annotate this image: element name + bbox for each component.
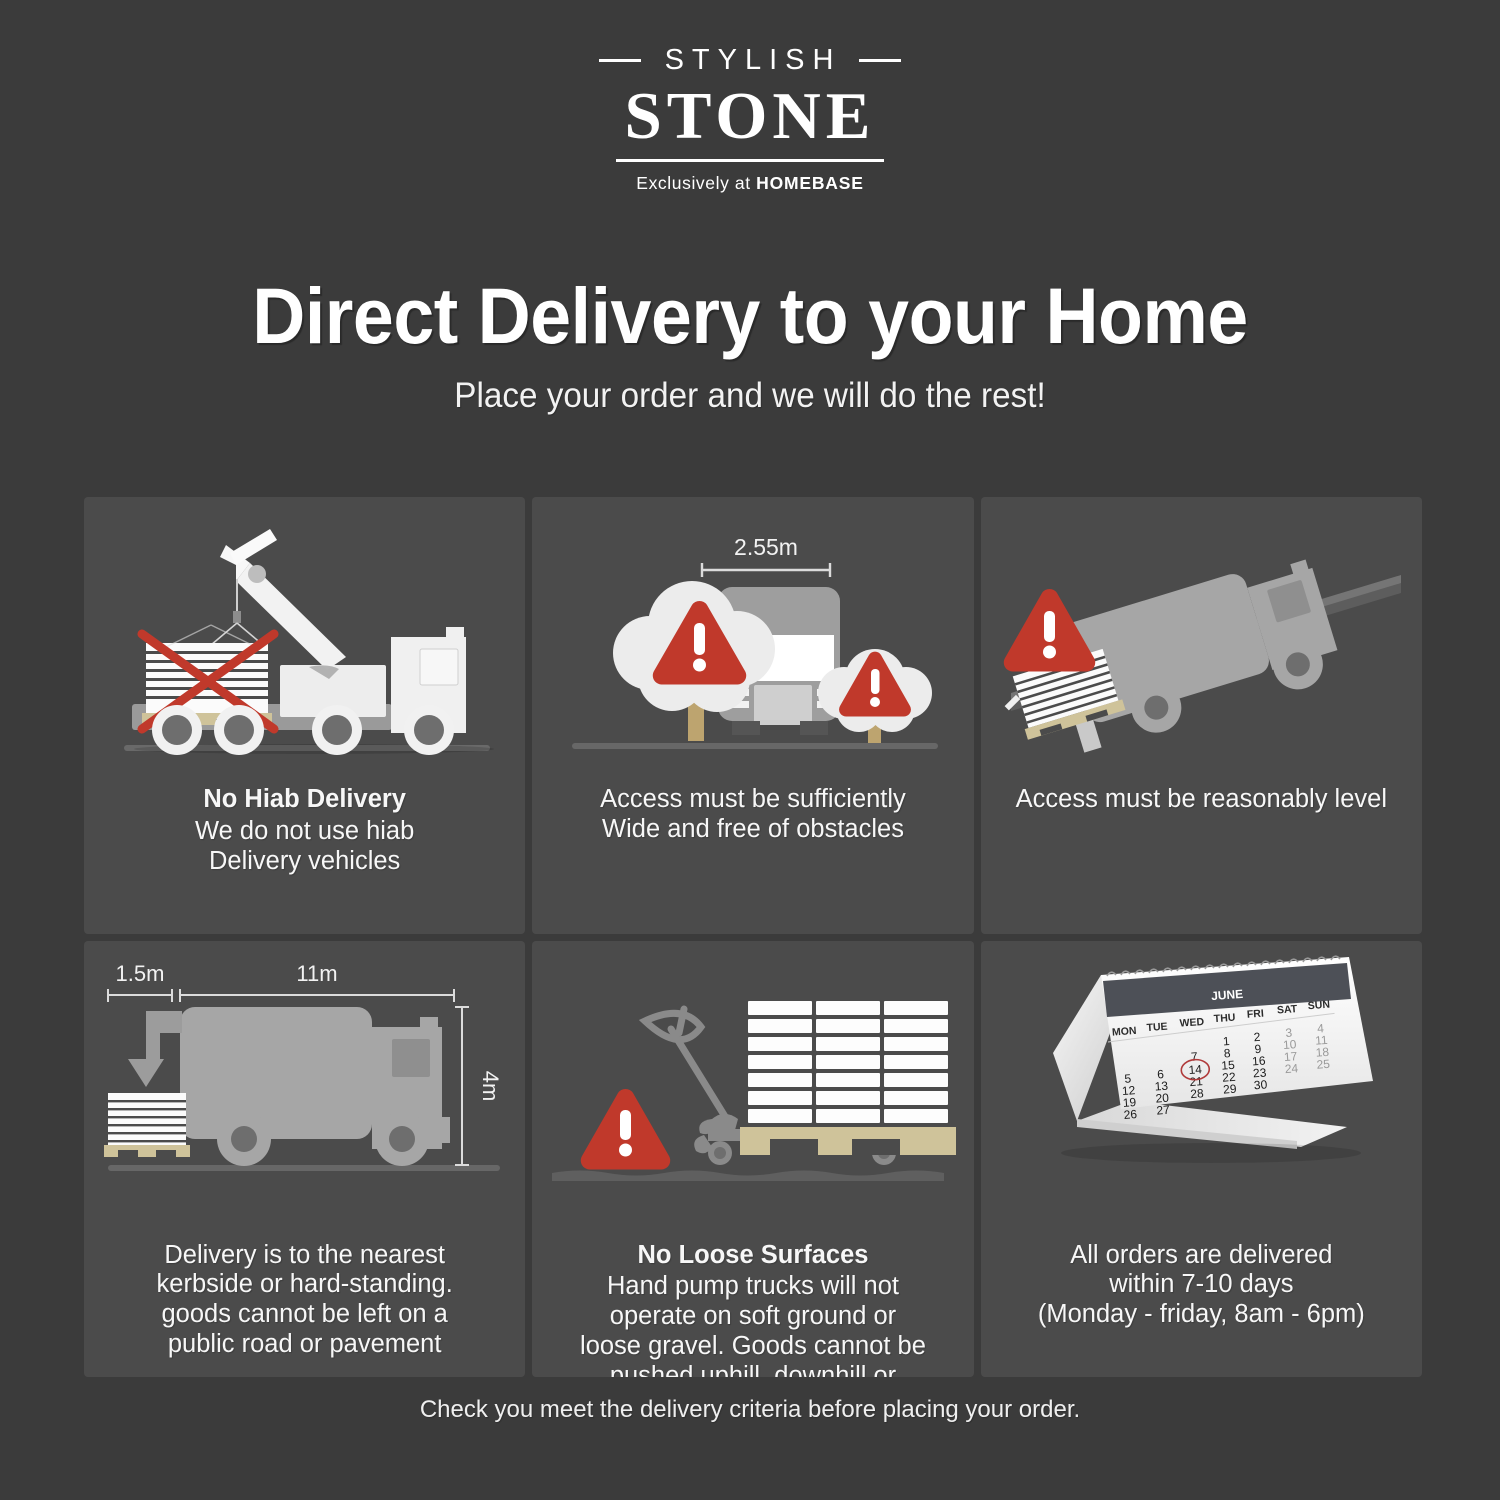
brand-logo: STYLISH STONE Exclusively at HOMEBASE [0, 44, 1500, 194]
page-title: Direct Delivery to your Home [53, 270, 1448, 362]
delivery-criteria-grid: No Hiab Delivery We do not use hiab Deli… [84, 497, 1422, 1377]
illustration-pump-truck [532, 941, 973, 1231]
logo-stylish-row: STYLISH [0, 44, 1500, 77]
dimension-label-length: 11m [296, 961, 337, 986]
slab-stack [740, 1001, 956, 1155]
card-line-2: Wide and free of obstacles [602, 815, 904, 843]
card-line-3: loose gravel. Goods cannot be [580, 1332, 926, 1360]
card-line-3: (Monday - friday, 8am - 6pm) [1038, 1300, 1365, 1328]
svg-text:MON: MON [1111, 1024, 1136, 1038]
svg-text:SUN: SUN [1307, 998, 1330, 1012]
infographic-page: STYLISH STONE Exclusively at HOMEBASE Di… [0, 0, 1500, 1500]
illustration-truck-between-trees: 2.55m [532, 497, 973, 787]
logo-tagline-prefix: Exclusively at [636, 173, 756, 193]
offload-arrow-icon [128, 1011, 182, 1087]
logo-rule-right [859, 59, 901, 62]
card-line-1: We do not use hiab [195, 817, 414, 845]
illustration-truck-on-slope [981, 497, 1422, 787]
caption-kerbside-delivery: Delivery is to the nearest kerbside or h… [84, 1241, 525, 1360]
caption-delivery-timeframe: All orders are delivered within 7-10 day… [981, 1241, 1422, 1330]
logo-rule-left [599, 59, 641, 62]
footer-note: Check you meet the delivery criteria bef… [0, 1396, 1500, 1424]
svg-text:28: 28 [1190, 1086, 1205, 1101]
calendar-svg: JUNE MON TUE [981, 941, 1422, 1231]
svg-text:THU: THU [1213, 1011, 1235, 1025]
illustration-truck-dimensions: 1.5m 11m 4m [84, 941, 525, 1231]
caption-access-width: Access must be sufficiently Wide and fre… [532, 785, 973, 845]
logo-tagline: Exclusively at HOMEBASE [0, 173, 1500, 194]
card-title-no-loose-surfaces: No Loose Surfaces [550, 1241, 955, 1271]
access-width-svg: 2.55m [532, 497, 973, 787]
card-access-level: Access must be reasonably level [981, 497, 1422, 934]
caption-no-hiab-delivery: No Hiab Delivery We do not use hiab Deli… [84, 785, 525, 876]
logo-stone-text: STONE [0, 81, 1500, 152]
svg-text:FRI: FRI [1246, 1007, 1264, 1020]
card-line-2: kerbside or hard-standing. [157, 1270, 453, 1298]
card-line-1: Access must be reasonably level [1016, 785, 1387, 813]
card-line-1: Delivery is to the nearest [164, 1241, 445, 1269]
calendar-month-label: JUNE [1210, 986, 1243, 1002]
illustration-desk-calendar: JUNE MON TUE [981, 941, 1422, 1231]
pump-truck-svg [532, 941, 973, 1231]
card-line-2: within 7-10 days [1109, 1270, 1293, 1298]
card-line-3: goods cannot be left on a [161, 1300, 447, 1328]
svg-text:25: 25 [1316, 1056, 1331, 1071]
card-line-4: public road or pavement [168, 1330, 442, 1358]
page-subtitle: Place your order and we will do the rest… [38, 376, 1463, 416]
card-line-2: Delivery vehicles [209, 847, 400, 875]
dimension-label-offload: 1.5m [116, 961, 165, 986]
dimension-label-width: 2.55m [734, 534, 798, 560]
card-line-1: Hand pump trucks will not [607, 1272, 899, 1300]
caption-no-loose-surfaces: No Loose Surfaces Hand pump trucks will … [532, 1241, 973, 1378]
warning-icon-loose-surface [581, 1088, 670, 1169]
access-level-svg [981, 497, 1422, 787]
logo-tagline-brand: HOMEBASE [756, 173, 864, 193]
card-title-no-hiab: No Hiab Delivery [102, 785, 507, 815]
card-access-width: 2.55m [532, 497, 973, 934]
dimension-label-height: 4m [478, 1070, 503, 1101]
card-line-2: operate on soft ground or [610, 1302, 896, 1330]
svg-text:TUE: TUE [1146, 1020, 1168, 1034]
svg-text:30: 30 [1253, 1077, 1268, 1092]
card-no-hiab-delivery: No Hiab Delivery We do not use hiab Deli… [84, 497, 525, 934]
card-line-1: All orders are delivered [1070, 1241, 1332, 1269]
card-kerbside-delivery: 1.5m 11m 4m [84, 941, 525, 1378]
card-line-4: pushed uphill, downhill or [610, 1362, 896, 1377]
svg-text:24: 24 [1284, 1061, 1299, 1076]
svg-text:SAT: SAT [1276, 1003, 1298, 1016]
logo-stylish-text: STYLISH [659, 44, 842, 77]
svg-text:WED: WED [1179, 1015, 1205, 1029]
card-delivery-timeframe: JUNE MON TUE [981, 941, 1422, 1378]
hiab-truck-svg [84, 497, 525, 787]
caption-access-level: Access must be reasonably level [981, 785, 1422, 815]
logo-divider [616, 159, 884, 162]
svg-text:27: 27 [1156, 1102, 1171, 1117]
illustration-hiab-truck [84, 497, 525, 787]
kerbside-svg: 1.5m 11m 4m [84, 941, 525, 1231]
card-line-1: Access must be sufficiently [600, 785, 906, 813]
card-no-loose-surfaces: No Loose Surfaces Hand pump trucks will … [532, 941, 973, 1378]
svg-text:26: 26 [1123, 1107, 1138, 1122]
svg-text:29: 29 [1222, 1081, 1237, 1096]
